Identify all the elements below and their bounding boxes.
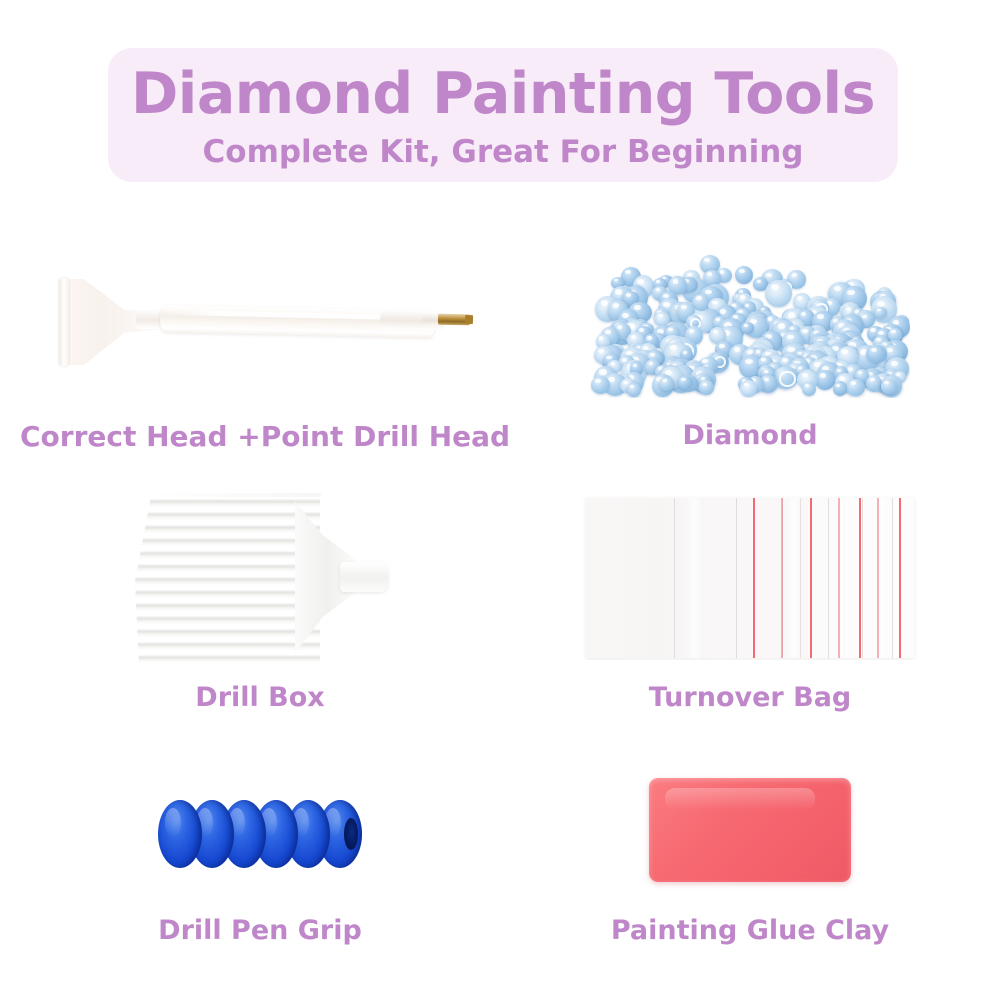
bag-zip-stripe <box>838 498 840 658</box>
bag-panel <box>586 498 672 658</box>
diamond-drill-bead <box>802 382 816 396</box>
tray-top-edge <box>149 493 321 497</box>
product-label-drill-box: Drill Box <box>20 682 500 713</box>
pen-illustration <box>50 265 470 385</box>
bag-fold-line <box>674 498 675 658</box>
diamond-painting-pen-image <box>20 250 500 400</box>
bag-illustration <box>586 498 914 658</box>
diamond-drill-bead <box>846 379 865 397</box>
painting-glue-clay-image <box>510 755 990 905</box>
turnover-bag-image <box>510 495 990 660</box>
diamond-drill-bead <box>881 379 898 394</box>
bag-sheen <box>686 498 702 658</box>
drill-pen-grip-image <box>20 765 500 905</box>
page-subtitle: Complete Kit, Great For Beginning <box>203 137 804 168</box>
diamond-drill-bead <box>699 380 714 395</box>
diamond-drill-bead <box>659 377 674 391</box>
bag-fold-line <box>828 498 829 658</box>
product-infographic-page: Diamond Painting Tools Complete Kit, Gre… <box>0 0 1000 1000</box>
grip-segment <box>158 800 202 868</box>
diamond-drill-bead <box>735 266 754 284</box>
grip-bore-hole <box>344 818 358 850</box>
pen-funnel-rim <box>59 278 69 366</box>
product-cell-drill-box: Drill Box <box>20 485 500 735</box>
bag-sheen <box>872 498 888 658</box>
bag-panel <box>672 498 734 658</box>
bag-zip-stripe <box>810 498 812 658</box>
pen-tip-end <box>465 315 473 324</box>
product-grid: Correct Head +Point Drill Head Diamond D… <box>0 200 1000 1000</box>
diamond-drill-bead <box>627 383 641 397</box>
tray-handle <box>340 562 388 592</box>
header-banner: Diamond Painting Tools Complete Kit, Gre… <box>108 48 898 182</box>
drill-box-tray-image <box>20 485 500 670</box>
product-label-correct-head-point-drill-head: Correct Head +Point Drill Head <box>20 420 500 453</box>
grip-illustration <box>158 800 362 870</box>
product-cell-correct-head-point-drill-head: Correct Head +Point Drill Head <box>20 220 500 480</box>
diamond-drill-bead <box>833 381 848 396</box>
bag-fold-line <box>736 498 737 658</box>
product-cell-turnover-bag: Turnover Bag <box>510 485 990 735</box>
drill-pile-illustration <box>590 248 910 398</box>
page-title: Diamond Painting Tools <box>131 66 875 123</box>
clay-illustration <box>649 778 851 882</box>
diamond-drills-image <box>510 240 990 405</box>
bag-zip-stripe <box>877 498 879 658</box>
product-label-turnover-bag: Turnover Bag <box>510 682 990 713</box>
bag-fold-line <box>892 498 893 658</box>
diamond-drill-bead <box>740 380 757 397</box>
bag-fold-line <box>862 498 863 658</box>
tray-ribs <box>135 494 320 662</box>
clay-highlight <box>665 788 815 810</box>
bag-sheen <box>786 498 802 658</box>
diamond-drill-bead <box>654 312 670 326</box>
diamond-drill-bead <box>765 280 792 308</box>
product-label-diamond: Diamond <box>510 420 990 451</box>
product-cell-diamond: Diamond <box>510 220 990 480</box>
bag-zip-stripe <box>859 498 861 658</box>
bag-zip-stripe <box>781 498 783 658</box>
bag-zip-stripe <box>899 498 901 658</box>
product-label-drill-pen-grip: Drill Pen Grip <box>20 915 500 946</box>
product-label-painting-glue-clay: Painting Glue Clay <box>510 915 990 946</box>
tray-illustration <box>135 488 385 668</box>
product-cell-drill-pen-grip: Drill Pen Grip <box>20 755 500 985</box>
product-cell-painting-glue-clay: Painting Glue Clay <box>510 755 990 985</box>
bag-zip-stripe <box>753 498 755 658</box>
